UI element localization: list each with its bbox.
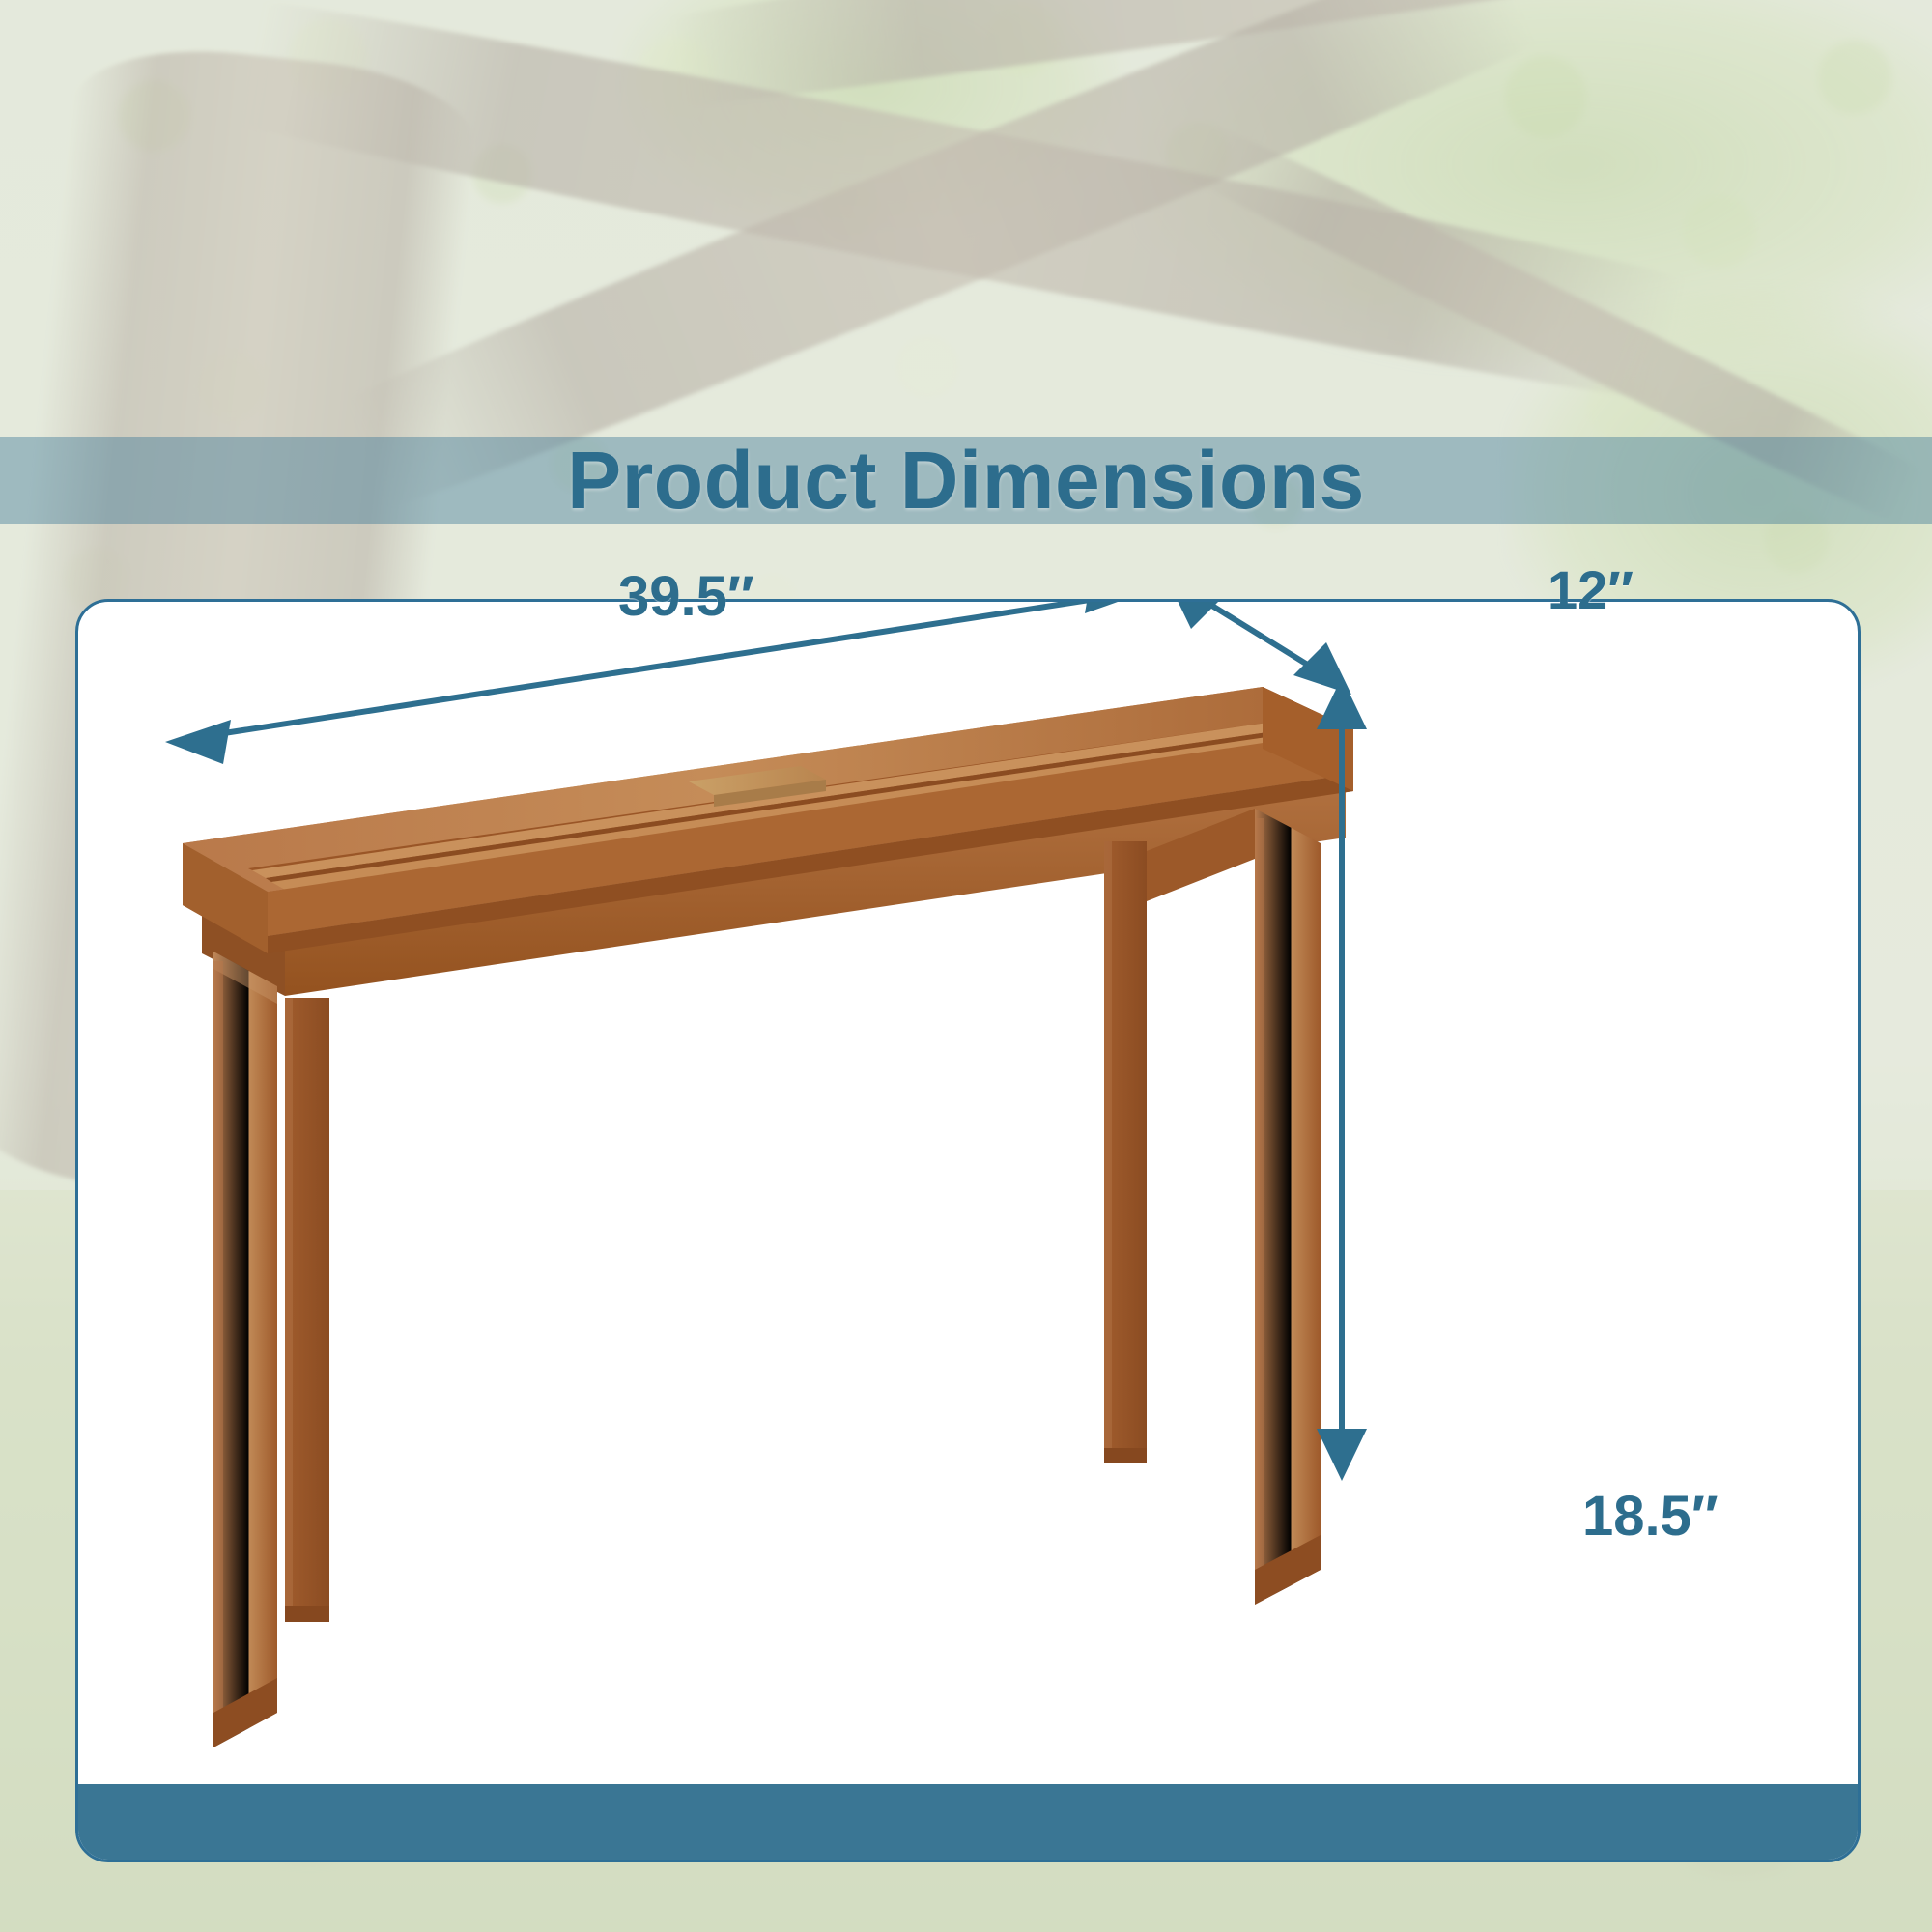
infographic-canvas: Product Dimensions	[0, 0, 1932, 1932]
arrow-left-icon	[165, 720, 231, 764]
page-title: Product Dimensions	[0, 425, 1932, 536]
arrow-right-icon	[1085, 602, 1151, 613]
arrow-down-icon	[1317, 1429, 1367, 1481]
dimension-annotations	[78, 602, 1861, 1862]
product-dimensions-card	[75, 599, 1861, 1862]
dimension-label-height: 18.5″	[1582, 1484, 1719, 1548]
dimension-label-length: 39.5″	[618, 564, 754, 629]
card-footer-bar	[78, 1784, 1858, 1860]
dimension-label-depth: 12″	[1548, 558, 1634, 621]
